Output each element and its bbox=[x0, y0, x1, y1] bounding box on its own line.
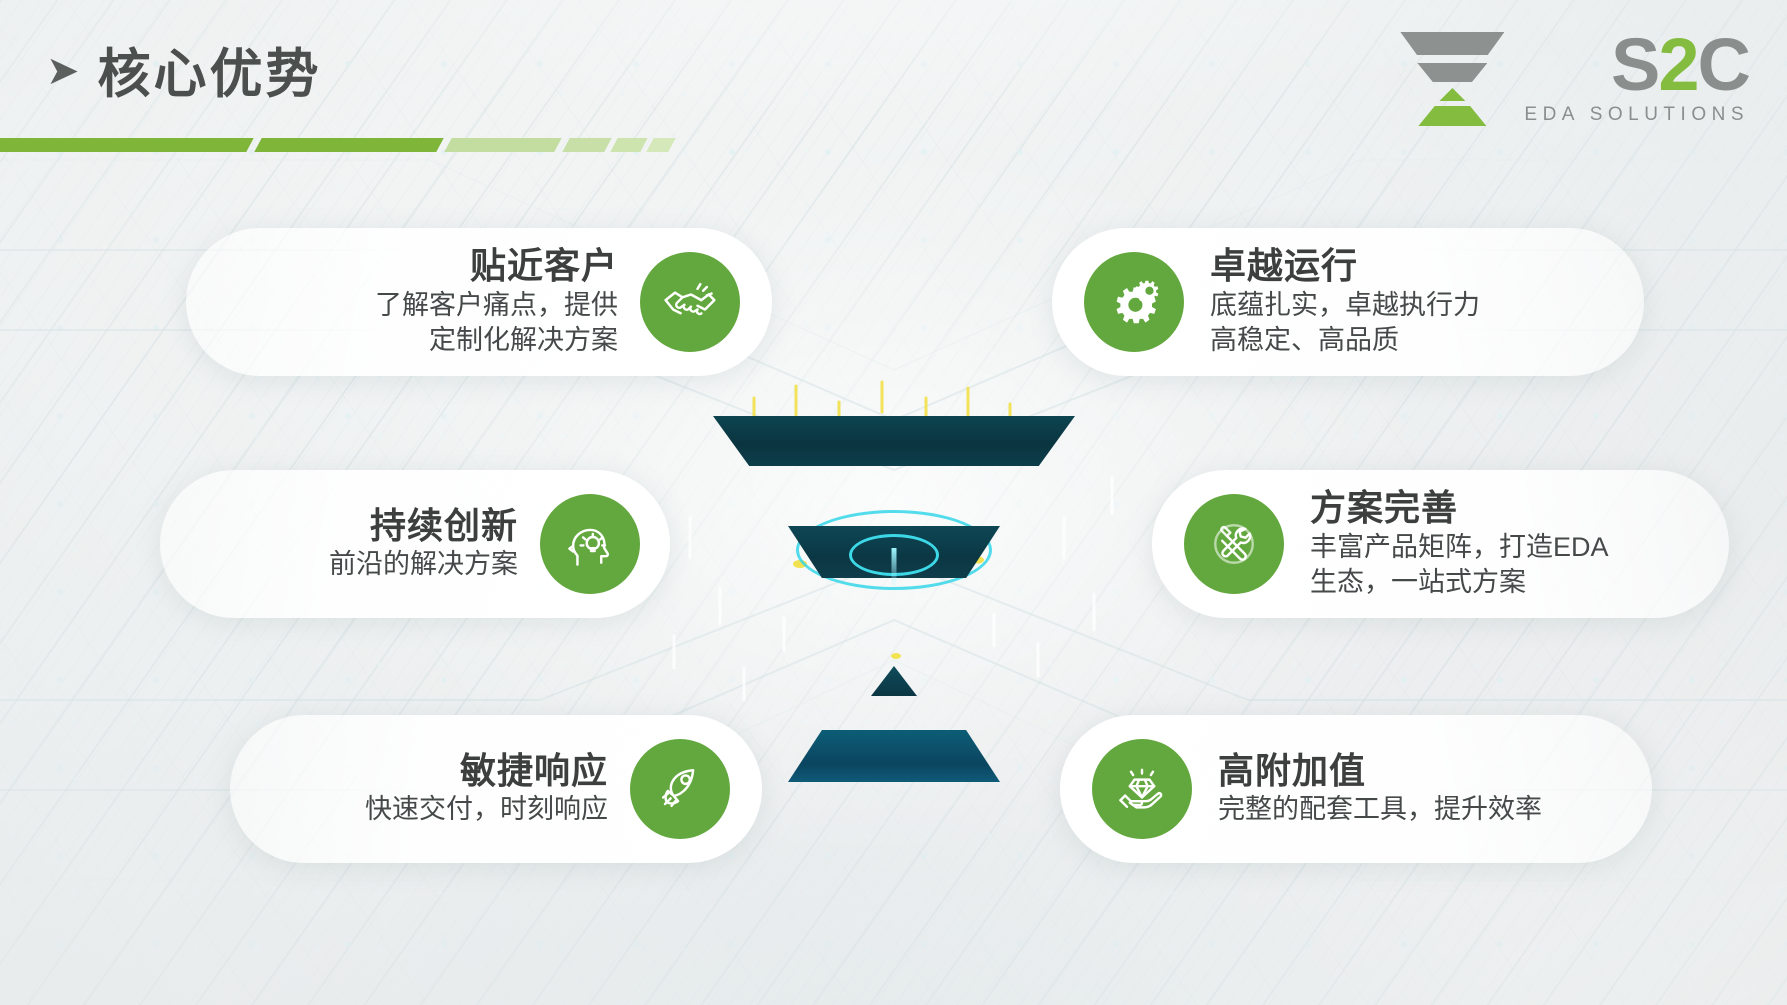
card-title: 敏捷响应 bbox=[460, 750, 608, 792]
wrench-screwdriver-icon bbox=[1184, 494, 1284, 594]
arrow-bullet-icon: ➤ bbox=[46, 51, 80, 91]
page-title: ➤ 核心优势 bbox=[46, 48, 322, 101]
card-line-2: 生态，一站式方案 bbox=[1310, 565, 1526, 601]
card-line-1: 了解客户痛点，提供 bbox=[375, 288, 618, 324]
card-line-1: 前沿的解决方案 bbox=[329, 547, 518, 583]
logo-tagline: EDA SOLUTIONS bbox=[1524, 104, 1749, 126]
funnel-tier-3 bbox=[871, 666, 917, 696]
rocket-icon bbox=[630, 739, 730, 839]
logo-letter-2: 2 bbox=[1658, 23, 1697, 106]
card-line-1: 底蕴扎实，卓越执行力 bbox=[1210, 288, 1480, 324]
handshake-icon bbox=[640, 252, 740, 352]
card-line-1: 丰富产品矩阵，打造EDA bbox=[1310, 530, 1609, 566]
s2c-logo: S2C EDA SOLUTIONS bbox=[1400, 30, 1749, 126]
card-title: 持续创新 bbox=[370, 505, 518, 547]
card-title: 高附加值 bbox=[1218, 750, 1366, 792]
head-lightbulb-icon bbox=[540, 494, 640, 594]
hand-diamond-icon bbox=[1092, 739, 1192, 839]
title-accent-bar bbox=[0, 138, 620, 152]
card-line-1: 快速交付，时刻响应 bbox=[365, 792, 608, 828]
slide-root: ➤ 核心优势 S2C EDA SOLUTIONS bbox=[0, 0, 1787, 1005]
funnel-beam bbox=[892, 548, 897, 590]
funnel-tier-4 bbox=[788, 730, 1000, 782]
card-title: 方案完善 bbox=[1310, 487, 1458, 529]
card-line-2: 定制化解决方案 bbox=[429, 323, 618, 359]
card-agile-response[interactable]: 敏捷响应 快速交付，时刻响应 bbox=[230, 715, 762, 863]
gears-icon bbox=[1084, 252, 1184, 352]
card-line-2: 高稳定、高品质 bbox=[1210, 323, 1399, 359]
logo-letter-s: S bbox=[1611, 23, 1658, 106]
card-title: 贴近客户 bbox=[470, 245, 618, 287]
s2c-wordmark: S2C EDA SOLUTIONS bbox=[1524, 30, 1749, 126]
s2c-funnel-hero-graphic bbox=[694, 398, 1094, 718]
card-high-added-value[interactable]: 高附加值 完整的配套工具，提升效率 bbox=[1060, 715, 1652, 863]
card-complete-solution[interactable]: 方案完善 丰富产品矩阵，打造EDA 生态，一站式方案 bbox=[1152, 470, 1729, 618]
s2c-funnel-mark-icon bbox=[1400, 30, 1504, 122]
card-operational-excellence[interactable]: 卓越运行 底蕴扎实，卓越执行力 高稳定、高品质 bbox=[1052, 228, 1644, 376]
logo-letter-c: C bbox=[1698, 23, 1749, 106]
card-continuous-innovation[interactable]: 持续创新 前沿的解决方案 bbox=[160, 470, 670, 618]
page-title-text: 核心优势 bbox=[98, 48, 322, 101]
card-close-to-customer[interactable]: 贴近客户 了解客户痛点，提供 定制化解决方案 bbox=[186, 228, 772, 376]
funnel-tier-1 bbox=[713, 416, 1075, 466]
card-line-1: 完整的配套工具，提升效率 bbox=[1218, 792, 1542, 828]
card-title: 卓越运行 bbox=[1210, 245, 1358, 287]
